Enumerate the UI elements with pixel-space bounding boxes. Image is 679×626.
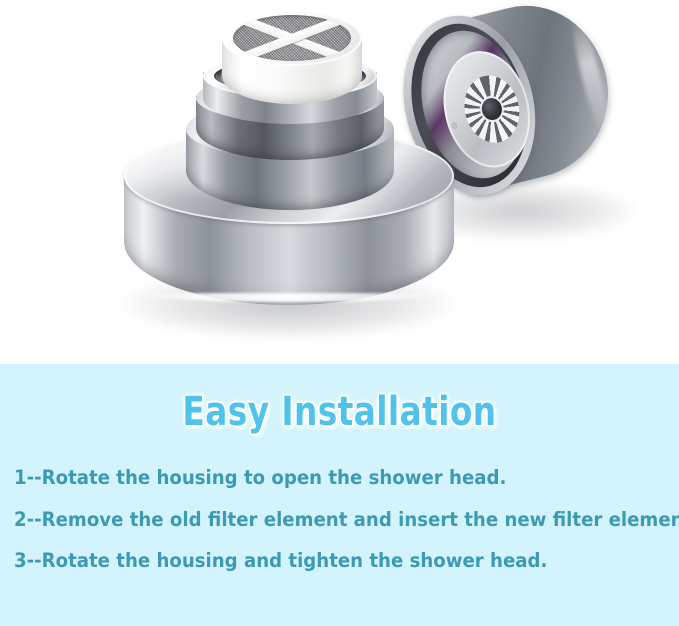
filter-cartridge-rim (222, 10, 362, 66)
installation-step-2: 2--Remove the old filter element and ins… (14, 510, 628, 530)
product-infographic: Easy Installation 1--Rotate the housing … (0, 0, 679, 626)
panel-title: Easy Installation (61, 389, 618, 435)
installation-steps-list: 1--Rotate the housing to open the shower… (14, 468, 674, 571)
installation-step-3: 3--Rotate the housing and tighten the sh… (14, 551, 628, 571)
installation-step-1: 1--Rotate the housing to open the shower… (14, 468, 628, 488)
product-photo (0, 0, 679, 364)
instruction-panel: Easy Installation 1--Rotate the housing … (0, 364, 679, 626)
